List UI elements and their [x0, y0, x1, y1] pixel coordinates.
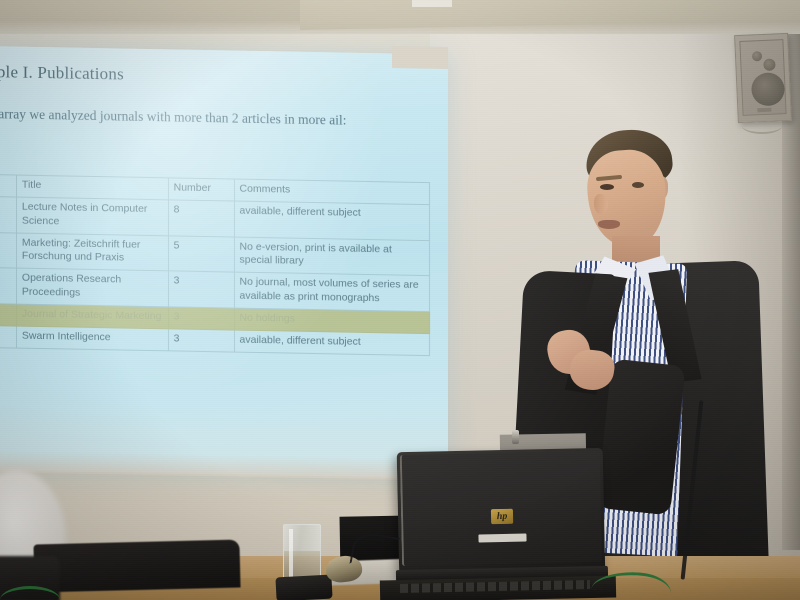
eye-right: [632, 182, 644, 188]
cell-number: 5: [168, 235, 234, 272]
cell-title: Journal of Strategic Marketing: [16, 304, 168, 329]
cell-title: Operations Research Proceedings: [16, 268, 168, 306]
col-header-title: Title: [16, 175, 168, 200]
col-header-issn: [0, 174, 16, 197]
cell-comments: available, different subject: [234, 330, 430, 355]
speaker-port-icon: [763, 58, 776, 71]
cell-comments: No journal, most volumes of series are a…: [234, 272, 430, 311]
cell-number: 3: [168, 307, 234, 330]
glass-highlight: [289, 529, 293, 581]
cell-issn: 924: [0, 267, 16, 304]
publications-table: Title Number Comments 743 Lecture Notes …: [0, 174, 430, 356]
cell-title: Swarm Intelligence: [16, 326, 168, 351]
cell-number: 8: [168, 200, 234, 237]
mouth: [598, 220, 620, 229]
cell-issn: 743: [0, 196, 16, 233]
cell-comments: available, different subject: [234, 201, 430, 240]
photo-scene: Sample I. Publications he test array we …: [0, 0, 800, 600]
hp-logo-icon: hp: [491, 509, 513, 524]
laptop-lid-surface: hp: [400, 451, 602, 566]
cell-issn: 812: [0, 325, 16, 348]
ceiling-light: [412, 0, 452, 7]
speaker-woofer-icon: [751, 72, 785, 106]
cell-issn: 54X: [0, 303, 16, 326]
cell-title: Lecture Notes in Computer Science: [16, 197, 168, 235]
speaker-tweeter-icon: [752, 51, 762, 61]
wall-speaker: [734, 33, 792, 123]
laptop-lid[interactable]: hp: [397, 448, 606, 580]
cell-title: Marketing: Zeitschrift fuer Forschung un…: [16, 233, 168, 271]
dark-object-on-table: [275, 575, 332, 600]
speaker-badge: [757, 108, 771, 113]
cell-number: 3: [168, 329, 234, 352]
cell-number: 3: [168, 271, 234, 308]
col-header-number: Number: [168, 178, 234, 201]
cell-issn: 369: [0, 232, 16, 269]
projected-slide: Sample I. Publications he test array we …: [0, 46, 448, 478]
box-connector: [512, 430, 519, 444]
slide-title: Sample I. Publications: [0, 62, 124, 85]
nose: [594, 194, 608, 214]
slide-body-text: he test array we analyzed journals with …: [0, 104, 430, 134]
chair-back: [33, 539, 240, 592]
eye-left: [600, 184, 614, 190]
laptop-sticker: [478, 533, 526, 542]
speaker-face: [739, 39, 786, 116]
cell-comments: No e-version, print is available at spec…: [234, 237, 430, 276]
